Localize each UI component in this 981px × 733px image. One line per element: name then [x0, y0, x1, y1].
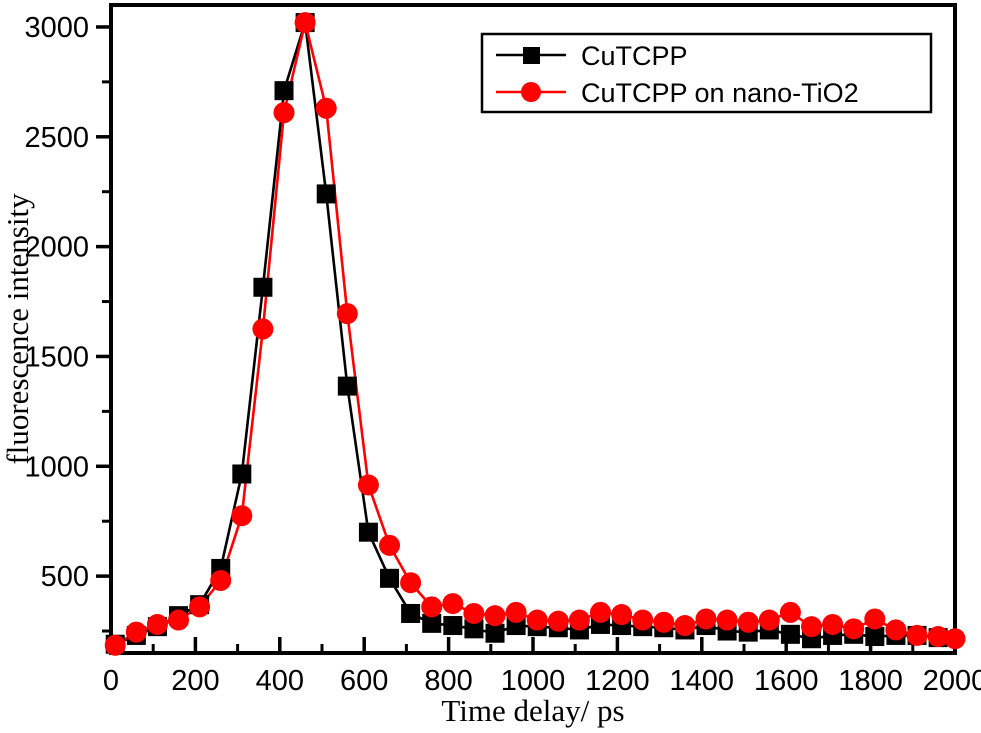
data-point-marker	[316, 98, 337, 119]
data-point-marker	[295, 12, 316, 33]
y-tick-label-3000: 3000	[24, 12, 89, 44]
data-point-marker	[252, 319, 273, 340]
data-point-marker	[885, 619, 906, 640]
data-point-marker	[442, 593, 463, 614]
figure-container: 0200400600800100012001400160018002000 50…	[0, 0, 981, 733]
data-point-marker	[168, 610, 189, 631]
data-point-marker	[379, 535, 400, 556]
data-point-marker	[337, 303, 358, 324]
data-point-marker	[822, 614, 843, 635]
x-tick-label-400: 400	[256, 665, 304, 697]
data-point-marker	[907, 625, 928, 646]
data-point-marker	[486, 624, 505, 643]
data-point-marker	[864, 608, 885, 629]
data-point-marker	[231, 505, 252, 526]
data-point-marker	[738, 612, 759, 633]
data-point-marker	[338, 377, 357, 396]
data-point-marker	[359, 523, 378, 542]
data-point-marker	[274, 102, 295, 123]
data-point-marker	[485, 605, 506, 626]
x-tick-label-2000: 2000	[923, 665, 981, 697]
data-point-marker	[590, 602, 611, 623]
data-point-marker	[945, 628, 966, 649]
data-point-marker	[674, 615, 695, 636]
x-tick-label-600: 600	[340, 665, 388, 697]
data-point-marker	[611, 604, 632, 625]
data-point-marker	[548, 611, 569, 632]
data-point-marker	[232, 464, 251, 483]
legend: CuTCPP CuTCPP on nano-TiO2	[482, 34, 931, 112]
data-point-marker	[717, 610, 738, 631]
x-axis-title: Time delay/ ps	[441, 693, 624, 728]
data-point-marker	[801, 616, 822, 637]
data-point-marker	[275, 81, 294, 100]
x-tick-label-0: 0	[103, 665, 119, 697]
data-point-marker	[463, 603, 484, 624]
data-point-marker	[653, 612, 674, 633]
line-chart: 0200400600800100012001400160018002000 50…	[0, 0, 981, 733]
data-point-marker	[759, 610, 780, 631]
data-point-marker	[210, 570, 231, 591]
data-point-marker	[189, 596, 210, 617]
y-tick-label-500: 500	[41, 561, 89, 593]
data-point-marker	[632, 610, 653, 631]
data-point-marker	[780, 602, 801, 623]
data-point-marker	[569, 610, 590, 631]
data-point-marker	[147, 614, 168, 635]
data-point-marker	[253, 278, 272, 297]
data-point-marker	[126, 622, 147, 643]
data-point-marker	[443, 616, 462, 635]
legend-marker-circle-icon	[521, 82, 541, 102]
y-axis-title: fluorescence intensity	[0, 193, 35, 465]
data-point-marker	[696, 608, 717, 629]
legend-label-1: CuTCPP on nano-TiO2	[581, 78, 859, 108]
data-point-marker	[380, 569, 399, 588]
data-point-marker	[527, 610, 548, 631]
data-point-marker	[105, 635, 126, 656]
data-point-marker	[317, 184, 336, 203]
y-tick-label-2500: 2500	[24, 122, 89, 154]
data-point-marker	[400, 572, 421, 593]
data-point-marker	[865, 627, 884, 646]
legend-marker-square-icon	[523, 47, 540, 64]
x-tick-label-1400: 1400	[670, 665, 735, 697]
data-point-marker	[421, 596, 442, 617]
legend-label-0: CuTCPP	[581, 41, 688, 71]
data-point-marker	[843, 618, 864, 639]
data-point-marker	[506, 602, 527, 623]
data-point-marker	[781, 625, 800, 644]
x-tick-label-1800: 1800	[838, 665, 903, 697]
x-tick-label-1600: 1600	[754, 665, 819, 697]
x-tick-label-200: 200	[171, 665, 219, 697]
data-point-marker	[358, 474, 379, 495]
data-point-marker	[401, 604, 420, 623]
